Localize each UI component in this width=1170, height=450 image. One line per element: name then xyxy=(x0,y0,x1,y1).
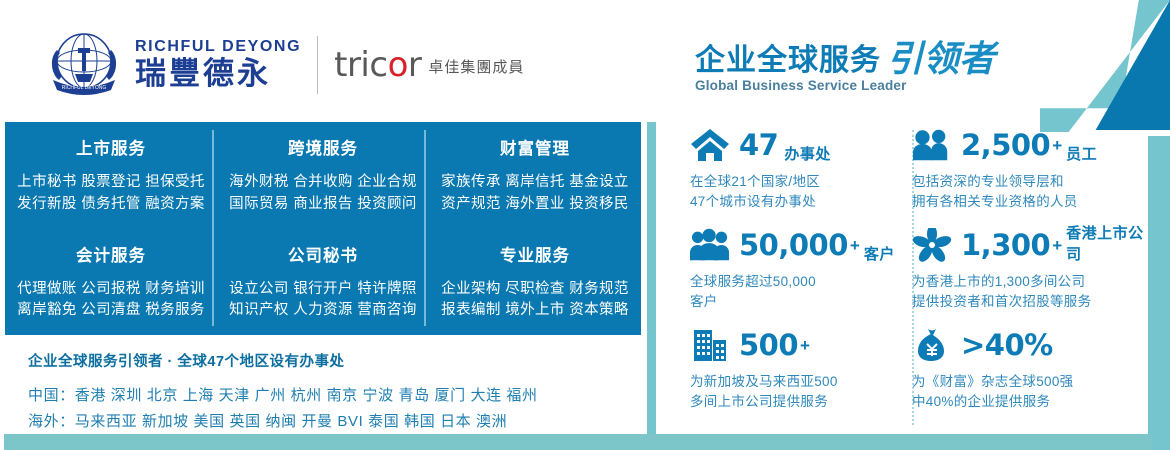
service-cell-crossborder[interactable]: 跨境服务 海外财税 合并收购 企业合规 国际贸易 商业报告 投资顾问 xyxy=(217,122,429,229)
stat-description: 为新加坡及马来西亚500 多间上市公司提供服务 xyxy=(690,372,906,413)
people-group-icon xyxy=(690,227,730,263)
stat-desc-line1: 为《财富》杂志全球500强 xyxy=(912,372,1144,392)
stat-sg-my-listed[interactable]: 500 + 为新加坡及马来西亚500 多间上市公司提供服务 xyxy=(690,324,912,424)
stat-plus: + xyxy=(1052,137,1062,154)
stat-hk-listed[interactable]: 1,300 + 香港上市公司 为香港上市的1,300多间公司 提供投资者和首次招… xyxy=(912,224,1150,324)
slogan-block: 企业全球服务 引领者 Global Business Service Leade… xyxy=(695,42,995,93)
services-grid: 上市服务 上市秘书 股票登记 担保受托 发行新股 债务托管 融资方案 跨境服务 … xyxy=(5,122,641,335)
stat-desc-line2: 多间上市公司提供服务 xyxy=(690,392,906,412)
service-items-line2: 资产规范 海外置业 投资移民 xyxy=(441,194,629,216)
house-icon xyxy=(690,127,730,163)
stat-number: 500 xyxy=(739,331,798,360)
stat-unit: 员工 xyxy=(1066,143,1097,166)
stat-number: 50,000 xyxy=(739,231,848,260)
stat-plus: + xyxy=(800,337,810,354)
slogan-main-text: 企业全球服务 xyxy=(695,46,881,76)
service-cell-accounting[interactable]: 会计服务 代理做账 公司报税 财务培训 离岸豁免 公司清盘 税务服务 xyxy=(5,229,217,336)
service-items-line1: 代理做账 公司报税 财务培训 xyxy=(17,279,205,301)
footer-headline: 企业全球服务引领者 · 全球47个地区设有办事处 xyxy=(28,350,638,371)
logo-chinese-name: 瑞豐德永 xyxy=(135,58,301,91)
stats-grid: 47 办事处 在全球21个国家/地区 47个城市设有办事处 xyxy=(690,124,1150,424)
stat-staff[interactable]: 2,500 + 员工 包括资深的专业领导层和 拥有各相关专业资格的人员 xyxy=(912,124,1150,224)
stat-desc-line1: 为香港上市的1,300多间公司 xyxy=(912,272,1144,292)
service-title: 跨境服务 xyxy=(288,135,358,159)
stat-heading: 2,500 + 员工 xyxy=(912,124,1144,166)
office-footer: 企业全球服务引领者 · 全球47个地区设有办事处 中国：香港 深圳 北京 上海 … xyxy=(28,350,638,436)
service-title: 公司秘书 xyxy=(288,242,358,266)
bottom-teal-bar xyxy=(4,434,1152,450)
building-icon xyxy=(690,327,730,363)
crest-emblem-icon: RICHFUL DEYONG xyxy=(45,28,123,102)
stat-desc-line2: 拥有各相关专业资格的人员 xyxy=(912,192,1144,212)
service-title: 会计服务 xyxy=(76,242,146,266)
stat-desc-line1: 包括资深的专业领导层和 xyxy=(912,172,1144,192)
stat-plus: + xyxy=(850,237,860,254)
stat-heading: 50,000 + 客户 xyxy=(690,224,906,266)
service-cell-listing[interactable]: 上市服务 上市秘书 股票登记 担保受托 发行新股 债务托管 融资方案 xyxy=(5,122,217,229)
service-items-line1: 设立公司 银行开户 特许牌照 xyxy=(229,279,417,301)
stat-fortune500[interactable]: >40% 为《财富》杂志全球500强 中40%的企业提供服务 xyxy=(912,324,1150,424)
stat-heading: 500 + xyxy=(690,324,906,366)
money-bag-yen-icon xyxy=(912,327,952,363)
service-items-line1: 海外财税 合并收购 企业合规 xyxy=(229,172,417,194)
service-title: 上市服务 xyxy=(76,135,146,159)
service-items-line2: 报表编制 境外上市 资本策略 xyxy=(441,300,629,322)
tricor-wordmark: tricor xyxy=(334,48,421,82)
services-column-divider-1 xyxy=(212,130,214,326)
service-items-line1: 企业架构 尽职检查 财务规范 xyxy=(441,279,629,301)
stat-desc-line2: 47个城市设有办事处 xyxy=(690,192,906,212)
service-items-line2: 国际贸易 商业报告 投资顾问 xyxy=(229,194,417,216)
stat-heading: 1,300 + 香港上市公司 xyxy=(912,224,1144,266)
service-cell-wealth[interactable]: 财富管理 家族传承 离岸信托 基金设立 资产规范 海外置业 投资移民 xyxy=(429,122,641,229)
services-panel: 上市服务 上市秘书 股票登记 担保受托 发行新股 债务托管 融资方案 跨境服务 … xyxy=(5,122,641,335)
service-cell-professional[interactable]: 专业服务 企业架构 尽职检查 财务规范 报表编制 境外上市 资本策略 xyxy=(429,229,641,336)
stat-unit: 香港上市公司 xyxy=(1066,222,1144,266)
tricor-text-pre: tric xyxy=(334,45,387,85)
stat-description: 全球服务超过50,000 客户 xyxy=(690,272,906,313)
stat-heading: >40% xyxy=(912,324,1144,366)
tricor-text-post: r xyxy=(408,45,421,85)
service-cell-secretary[interactable]: 公司秘书 设立公司 银行开户 特许牌照 知识产权 人力资源 营商咨询 xyxy=(217,229,429,336)
footer-china-offices: 中国：香港 深圳 北京 上海 天津 广州 杭州 南京 宁波 青岛 厦门 大连 福… xyxy=(28,383,638,409)
crest-caption: RICHFUL DEYONG xyxy=(62,85,107,91)
service-items-line1: 上市秘书 股票登记 担保受托 xyxy=(17,172,205,194)
stat-desc-line1: 在全球21个国家/地区 xyxy=(690,172,906,192)
stat-number: 1,300 xyxy=(961,231,1050,260)
bottom-left-gap xyxy=(0,434,4,450)
service-title: 财富管理 xyxy=(500,135,570,159)
service-title: 专业服务 xyxy=(500,242,570,266)
service-items-line2: 发行新股 债务托管 融资方案 xyxy=(17,194,205,216)
slogan-brush-text: 引领者 xyxy=(887,42,995,76)
stat-number: 2,500 xyxy=(961,131,1050,160)
slogan-chinese: 企业全球服务 引领者 xyxy=(695,42,995,76)
tricor-lockup[interactable]: tricor 卓佳集團成員 xyxy=(334,48,524,82)
logo-divider xyxy=(317,36,318,94)
tricor-chinese-tag: 卓佳集團成員 xyxy=(428,56,524,77)
stat-desc-line2: 客户 xyxy=(690,292,906,312)
right-teal-bar xyxy=(1148,136,1170,450)
stat-description: 包括资深的专业领导层和 拥有各相关专业资格的人员 xyxy=(912,172,1144,213)
stat-heading: 47 办事处 xyxy=(690,124,906,166)
stat-desc-line1: 全球服务超过50,000 xyxy=(690,272,906,292)
header: RICHFUL DEYONG RICHFUL DEYONG 瑞豐德永 trico… xyxy=(0,0,1170,120)
stat-desc-line2: 中40%的企业提供服务 xyxy=(912,392,1144,412)
brand-logo[interactable]: RICHFUL DEYONG RICHFUL DEYONG 瑞豐德永 trico… xyxy=(45,28,524,102)
service-items-line1: 家族传承 离岸信托 基金设立 xyxy=(441,172,629,194)
poster-root: RICHFUL DEYONG RICHFUL DEYONG 瑞豐德永 trico… xyxy=(0,0,1170,450)
services-column-divider-2 xyxy=(424,130,426,326)
slogan-english: Global Business Service Leader xyxy=(695,78,995,93)
stat-desc-line2: 提供投资者和首次招股等服务 xyxy=(912,292,1144,312)
stat-description: 为《财富》杂志全球500强 中40%的企业提供服务 xyxy=(912,372,1144,413)
stat-number: 47 xyxy=(739,131,778,160)
stat-description: 在全球21个国家/地区 47个城市设有办事处 xyxy=(690,172,906,213)
stat-description: 为香港上市的1,300多间公司 提供投资者和首次招股等服务 xyxy=(912,272,1144,313)
bauhinia-flower-icon xyxy=(912,227,952,263)
service-items-line2: 离岸豁免 公司清盘 税务服务 xyxy=(17,300,205,322)
stat-unit: 办事处 xyxy=(784,143,831,166)
stat-offices[interactable]: 47 办事处 在全球21个国家/地区 47个城市设有办事处 xyxy=(690,124,912,224)
footer-overseas-offices: 海外：马来西亚 新加坡 美国 英国 纳闽 开曼 BVI 泰国 韩国 日本 澳洲 xyxy=(28,409,638,435)
logo-english-name: RICHFUL DEYONG xyxy=(135,39,301,55)
stat-number: >40% xyxy=(961,331,1053,360)
stat-clients[interactable]: 50,000 + 客户 全球服务超过50,000 客户 xyxy=(690,224,912,324)
stat-desc-line1: 为新加坡及马来西亚500 xyxy=(690,372,906,392)
tricor-red-o: o xyxy=(388,45,408,85)
two-people-icon xyxy=(912,127,952,163)
service-items-line2: 知识产权 人力资源 营商咨询 xyxy=(229,300,417,322)
stat-plus: + xyxy=(1052,237,1062,254)
center-divider xyxy=(647,122,656,439)
stat-unit: 客户 xyxy=(864,243,895,266)
